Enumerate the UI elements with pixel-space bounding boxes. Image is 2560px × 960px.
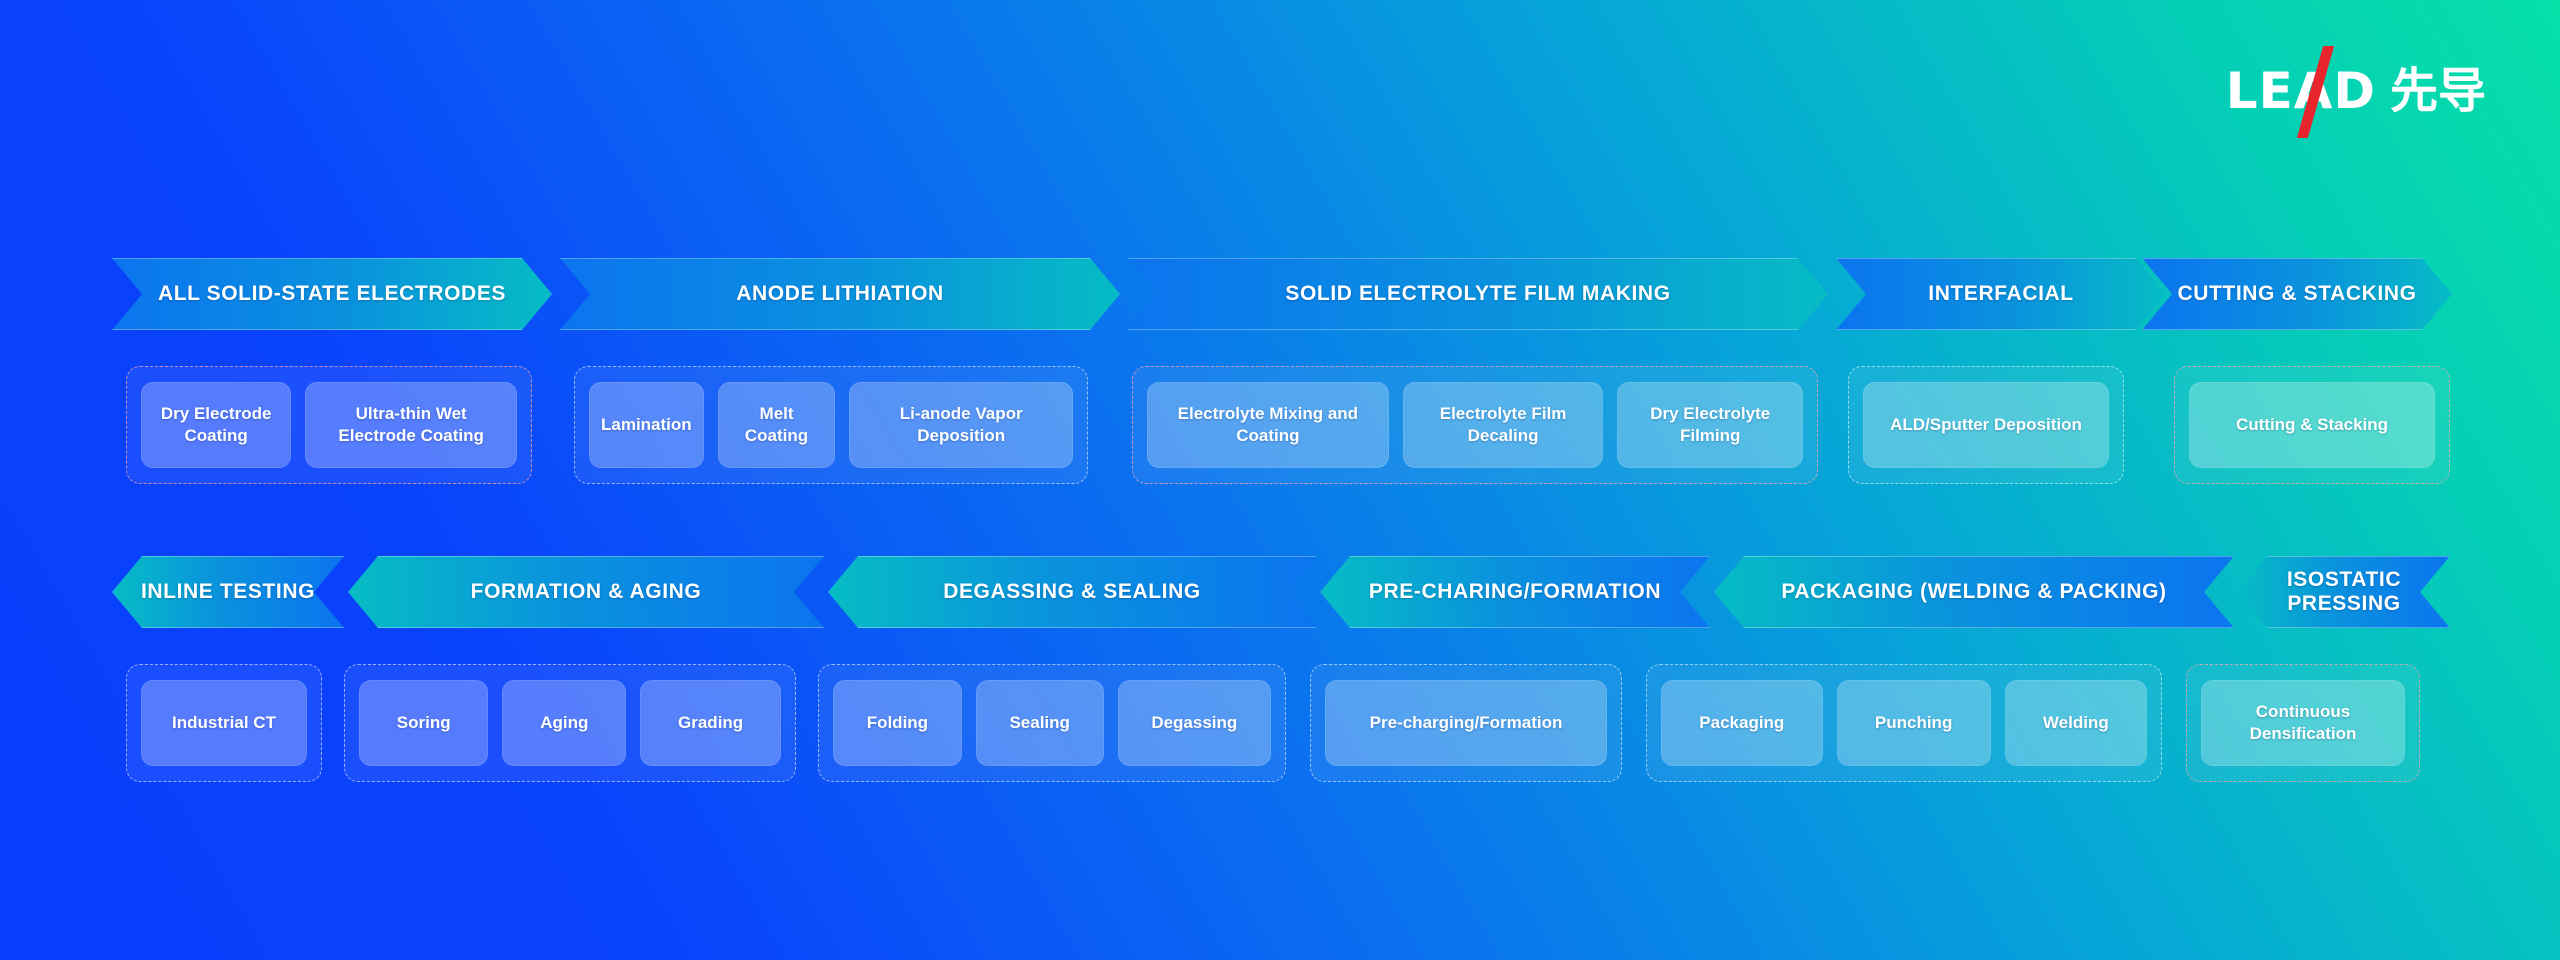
process-card-packaging[interactable]: Packaging [1661,680,1823,766]
process-card-label: Cutting & Stacking [2224,414,2400,436]
card-row-top: Dry Electrode CoatingUltra-thin Wet Elec… [0,366,2560,484]
process-card-ultra-thin-wet-electrode-coating[interactable]: Ultra-thin Wet Electrode Coating [305,382,517,468]
process-card-folding[interactable]: Folding [833,680,962,766]
process-stage-anode-lithiation[interactable]: ANODE LITHIATION [560,258,1120,330]
process-card-label: Dry Electrolyte Filming [1617,403,1803,447]
logo-wordmark: LEAD [2226,66,2376,116]
process-stage-label: FORMATION & AGING [445,580,728,604]
process-card-label: Dry Electrode Coating [141,403,291,447]
process-card-group: Pre-charging/Formation [1310,664,1622,782]
process-card-sealing[interactable]: Sealing [976,680,1104,766]
logo-chinese-name: 先导 [2390,67,2486,115]
process-card-continuous-densification[interactable]: Continuous Densification [2201,680,2405,766]
process-stage-pre-charing-formation[interactable]: PRE-CHARING/FORMATION [1320,556,1710,628]
process-stage-formation-aging[interactable]: FORMATION & AGING [348,556,824,628]
process-row-top: ALL SOLID-STATE ELECTRODESANODE LITHIATI… [0,258,2560,484]
process-card-label: Soring [385,712,463,734]
process-stage-label: SOLID ELECTROLYTE FILM MAKING [1259,282,1696,306]
process-stage-isostatic-pressing[interactable]: ISOSTATIC PRESSING [2238,556,2450,628]
process-card-li-anode-vapor-deposition[interactable]: Li-anode Vapor Deposition [849,382,1073,468]
process-card-label: Sealing [997,712,1081,734]
process-stage-label: INTERFACIAL [1902,282,2099,306]
process-card-punching[interactable]: Punching [1837,680,1991,766]
process-card-group: LaminationMelt CoatingLi-anode Vapor Dep… [574,366,1088,484]
process-card-label: Welding [2031,712,2121,734]
process-card-label: Continuous Densification [2201,701,2405,745]
process-card-soring[interactable]: Soring [359,680,488,766]
process-card-electrolyte-film-decaling[interactable]: Electrolyte Film Decaling [1403,382,1604,468]
brand-logo: LEAD 先导 [2226,64,2486,118]
process-card-group: Dry Electrode CoatingUltra-thin Wet Elec… [126,366,532,484]
process-card-degassing[interactable]: Degassing [1118,680,1271,766]
process-card-group: Industrial CT [126,664,322,782]
process-card-group: Electrolyte Mixing and CoatingElectrolyt… [1132,366,1818,484]
logo-mark: LEAD [2226,64,2376,118]
process-card-label: Packaging [1687,712,1796,734]
process-stage-label: CUTTING & STACKING [2151,282,2442,306]
process-card-label: Folding [855,712,940,734]
process-card-group: FoldingSealingDegassing [818,664,1286,782]
process-card-label: Punching [1863,712,1964,734]
process-stage-cutting-stacking[interactable]: CUTTING & STACKING [2142,258,2452,330]
chevron-row-bottom: INLINE TESTINGFORMATION & AGINGDEGASSING… [0,556,2560,628]
process-card-label: Electrolyte Mixing and Coating [1147,403,1389,447]
process-stage-label: DEGASSING & SEALING [917,580,1227,604]
process-card-label: ALD/Sputter Deposition [1878,414,2094,436]
process-card-pre-charging-formation[interactable]: Pre-charging/Formation [1325,680,1607,766]
process-stage-label: PACKAGING (WELDING & PACKING) [1755,580,2192,604]
card-row-bottom: Industrial CTSoringAgingGradingFoldingSe… [0,664,2560,782]
process-card-label: Lamination [589,414,704,436]
process-card-group: Cutting & Stacking [2174,366,2450,484]
process-card-label: Degassing [1139,712,1249,734]
process-card-label: Grading [666,712,755,734]
process-card-group: Continuous Densification [2186,664,2420,782]
process-stage-label: ALL SOLID-STATE ELECTRODES [132,282,532,306]
process-stage-label: PRE-CHARING/FORMATION [1343,580,1687,604]
process-card-label: Industrial CT [160,712,288,734]
process-card-label: Melt Coating [718,403,836,447]
process-card-melt-coating[interactable]: Melt Coating [718,382,836,468]
process-stage-label: INLINE TESTING [115,580,341,604]
process-card-group: PackagingPunchingWelding [1646,664,2162,782]
process-card-lamination[interactable]: Lamination [589,382,704,468]
process-card-electrolyte-mixing-and-coating[interactable]: Electrolyte Mixing and Coating [1147,382,1389,468]
chevron-row-top: ALL SOLID-STATE ELECTRODESANODE LITHIATI… [0,258,2560,330]
process-card-group: ALD/Sputter Deposition [1848,366,2124,484]
process-card-label: Aging [528,712,600,734]
process-card-ald-sputter-deposition[interactable]: ALD/Sputter Deposition [1863,382,2109,468]
process-card-cutting-stacking[interactable]: Cutting & Stacking [2189,382,2435,468]
process-card-label: Electrolyte Film Decaling [1403,403,1604,447]
process-card-industrial-ct[interactable]: Industrial CT [141,680,307,766]
process-card-label: Li-anode Vapor Deposition [849,403,1073,447]
process-stage-inline-testing[interactable]: INLINE TESTING [112,556,344,628]
process-stage-label: ISOSTATIC PRESSING [2261,568,2427,616]
process-card-aging[interactable]: Aging [502,680,626,766]
process-row-bottom: INLINE TESTINGFORMATION & AGINGDEGASSING… [0,556,2560,782]
process-card-group: SoringAgingGrading [344,664,796,782]
process-stage-all-solid-state-electrodes[interactable]: ALL SOLID-STATE ELECTRODES [112,258,552,330]
process-stage-packaging-welding-packing[interactable]: PACKAGING (WELDING & PACKING) [1714,556,2234,628]
process-stage-degassing-sealing[interactable]: DEGASSING & SEALING [828,556,1316,628]
process-stage-solid-electrolyte-film-making[interactable]: SOLID ELECTROLYTE FILM MAKING [1128,258,1828,330]
process-card-dry-electrode-coating[interactable]: Dry Electrode Coating [141,382,291,468]
process-card-grading[interactable]: Grading [640,680,781,766]
process-stage-label: ANODE LITHIATION [710,282,970,306]
process-stage-interfacial[interactable]: INTERFACIAL [1836,258,2166,330]
process-card-label: Pre-charging/Formation [1358,712,1575,734]
process-card-welding[interactable]: Welding [2005,680,2147,766]
process-card-label: Ultra-thin Wet Electrode Coating [305,403,517,447]
process-card-dry-electrolyte-filming[interactable]: Dry Electrolyte Filming [1617,382,1803,468]
